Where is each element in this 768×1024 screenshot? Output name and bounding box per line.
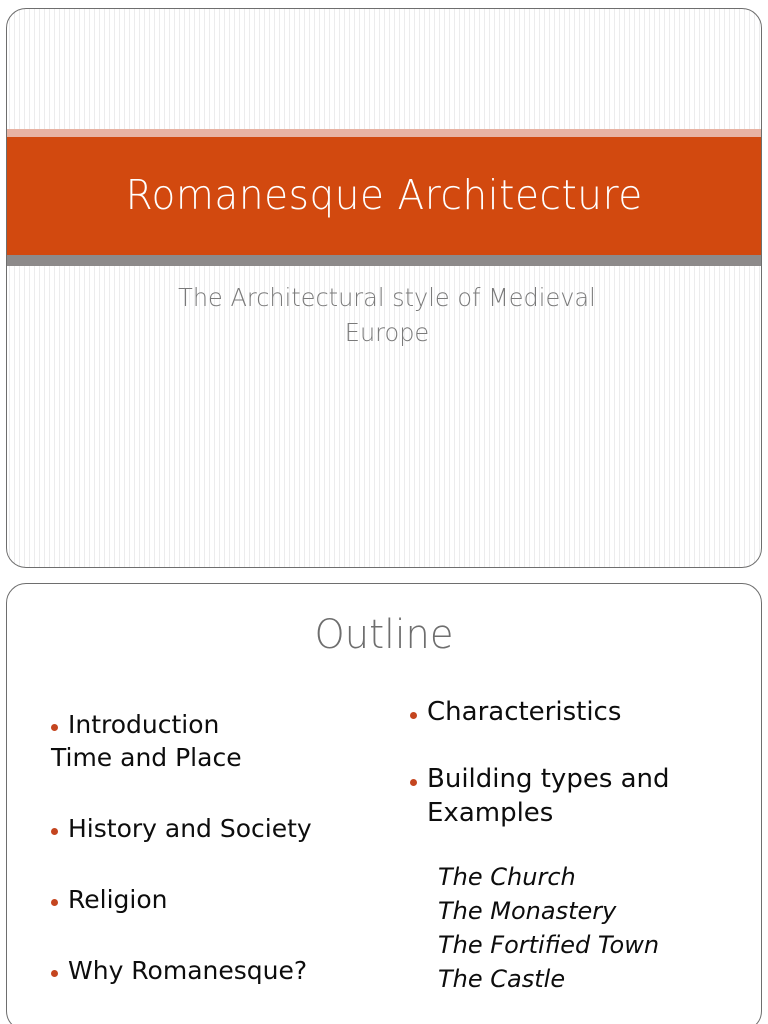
list-item-label: Religion (68, 883, 388, 916)
bullet-dot-icon (410, 712, 417, 719)
slide-deck: Romanesque Architecture The Architectura… (0, 0, 768, 1024)
bullet-dot-icon (410, 779, 417, 786)
banner-bottom-strip (7, 255, 761, 266)
spacer (51, 774, 388, 812)
outline-left-column: Introduction Time and Place History and … (7, 696, 396, 987)
title-banner: Romanesque Architecture (7, 137, 761, 255)
list-item-label: Introduction (68, 708, 388, 741)
outline-slide[interactable]: Outline Introduction Time and Place Hist… (6, 583, 762, 1024)
spacer (51, 916, 388, 954)
title-slide[interactable]: Romanesque Architecture The Architectura… (6, 8, 762, 568)
bullet-dot-icon (51, 724, 58, 731)
outline-page-title: Outline (22, 612, 746, 658)
banner-top-strip (7, 129, 761, 137)
list-item[interactable]: Religion (51, 883, 388, 916)
list-item[interactable]: History and Society (51, 812, 388, 845)
presentation-subtitle: The Architectural style of Medieval Euro… (137, 281, 636, 350)
spacer (410, 729, 751, 763)
list-item-label: History and Society (68, 812, 388, 845)
list-item-label: Characteristics (427, 696, 751, 729)
bullet-dot-icon (51, 970, 58, 977)
spacer (410, 830, 751, 860)
list-item[interactable]: Building types and Examples (410, 763, 751, 830)
list-item[interactable]: Introduction (51, 708, 388, 741)
sub-list-item[interactable]: The Fortified Town (410, 928, 751, 962)
bullet-dot-icon (51, 899, 58, 906)
presentation-title: Romanesque Architecture (125, 173, 642, 218)
list-item[interactable]: Why Romanesque? (51, 954, 388, 987)
sub-list-item[interactable]: The Monastery (410, 894, 751, 928)
list-item[interactable]: Characteristics (410, 696, 751, 729)
list-item-label: Building types and Examples (427, 763, 751, 830)
outline-columns: Introduction Time and Place History and … (7, 696, 761, 996)
sub-list-item[interactable]: The Castle (410, 962, 751, 996)
outline-right-column: Characteristics Building types and Examp… (396, 696, 761, 996)
list-item-continuation: Time and Place (51, 741, 388, 774)
spacer (51, 845, 388, 883)
sub-list-item[interactable]: The Church (410, 860, 751, 894)
bullet-dot-icon (51, 828, 58, 835)
list-item-label: Why Romanesque? (68, 954, 388, 987)
